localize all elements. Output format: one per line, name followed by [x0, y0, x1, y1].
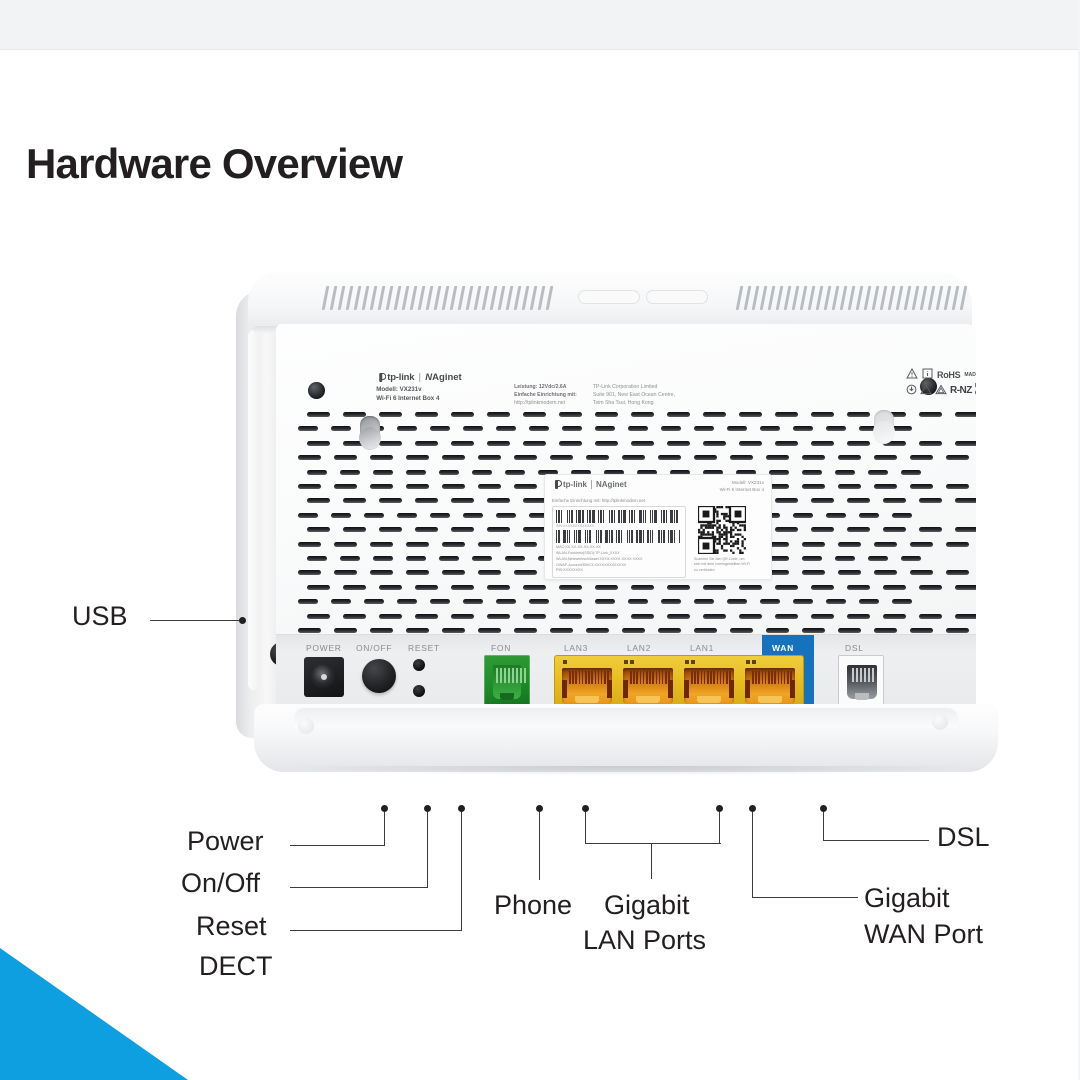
callout-dot-phone [536, 805, 543, 812]
tp-link-wordmark: tp-link [387, 372, 414, 383]
on-off-button[interactable] [362, 659, 396, 693]
callout-label-wan-line1: Gigabit [864, 883, 950, 914]
rj45-side-left [745, 680, 750, 698]
device-brand-block: tp-link NAginet Modell: VX231v Wi-Fi 6 I… [376, 372, 498, 404]
rj45-side-left [562, 680, 567, 698]
device-product-text: Wi-Fi 6 Internet Box 4 [376, 395, 498, 404]
sticker-aginet: NAginet [596, 480, 627, 489]
sticker-product: Wi-Fi 6 Internet Box 4 [720, 487, 764, 494]
callout-label-usb: USB [72, 601, 128, 632]
callout-leader-phone-v [539, 808, 540, 880]
rj45-jack-lan3 [558, 658, 616, 707]
callout-leader-power-h [290, 845, 385, 846]
serial-caption: S/N:XXXXXXXXXXXXX [556, 524, 682, 528]
fon-phone-port [484, 655, 530, 707]
ukca-mark: UKCA [975, 384, 976, 397]
rj45-tab [636, 696, 660, 703]
callout-leader-dsl-v [823, 808, 824, 841]
rnz-mark: R-NZ [950, 385, 972, 396]
callout-leader-power-v [384, 808, 385, 846]
callout-dot-wan [749, 805, 756, 812]
top-slot-right [646, 290, 708, 304]
company-line-1: TP-Link Corporation Limited [593, 383, 675, 391]
port-label-reset: RESET [408, 643, 440, 653]
callout-dot-onoff [424, 805, 431, 812]
made-in-china-mark: MADE IN CHINA [964, 372, 976, 378]
rj45-pins [752, 671, 792, 684]
page-title: Hardware Overview [26, 140, 402, 188]
port-label-dsl: DSL [845, 643, 864, 653]
dsl-port-tab [855, 693, 869, 700]
sticker-setup-text: Einfache Einrichtung mit: http://tplinkm… [545, 494, 771, 503]
callout-dot-lan-left [582, 805, 589, 812]
top-vent-group-right [738, 286, 965, 310]
rj45-pins [630, 671, 670, 684]
rj45-side-left [623, 680, 628, 698]
rohs-mark: RoHS [937, 370, 960, 380]
qr-code-icon [698, 506, 746, 554]
callout-leader-onoff-v [427, 808, 428, 888]
house-icon [920, 382, 932, 400]
callout-dot-reset [458, 805, 465, 812]
reset-pinhole[interactable] [413, 659, 425, 671]
callout-leader-reset-v [461, 808, 462, 931]
sticker-credential-line-5: PIN:XXXXXXXX [556, 568, 682, 574]
callout-dot-lan-right [716, 805, 723, 812]
page-top-band [0, 0, 1080, 50]
device-setup-url: http://tplinkmodem.net [514, 399, 577, 407]
qr-caption: Scannen Sie den QR-Code, um sich mit dem… [694, 557, 750, 574]
port-label-lan1: LAN1 [690, 643, 714, 653]
callout-dot-usb [239, 617, 246, 624]
router-drop-shadow [292, 766, 964, 776]
callout-label-dect: DECT [199, 951, 273, 982]
rj45-jack-wan [741, 658, 799, 707]
base-foot-left [298, 718, 314, 734]
fon-port-cavity [493, 665, 521, 699]
device-company-info: TP-Link Corporation Limited Suite 901, N… [593, 372, 675, 407]
device-setup-label: Einfache Einrichtung mit: [514, 392, 577, 398]
port-label-power: POWER [306, 643, 342, 653]
callout-label-lan-line1: Gigabit [604, 890, 690, 921]
callout-leader-lan-left-v [585, 808, 586, 844]
rj45-cavity [562, 668, 612, 704]
rj45-tab [697, 696, 721, 703]
port-led-left [563, 660, 567, 664]
aginet-wordmark: NAginet [425, 372, 461, 383]
callout-dot-dsl [820, 805, 827, 812]
callout-leader-dsl-h [823, 840, 929, 841]
certification-marks: RoHS MADE IN CHINA R-NZ UKCA € CE EAC TP [906, 368, 976, 399]
rj45-cavity [684, 668, 734, 704]
callout-label-dsl: DSL [937, 822, 990, 853]
callout-label-lan-line2: LAN Ports [583, 925, 706, 956]
router-top-lid [248, 272, 972, 330]
router-side-highlight [248, 330, 260, 690]
screw-hole-top-left [308, 382, 325, 399]
rj45-tab [758, 696, 782, 703]
port-led-right [752, 660, 756, 664]
lan-wan-port-bank [554, 655, 804, 709]
tp-link-mark-icon [376, 373, 385, 382]
rj45-pins [569, 671, 609, 684]
callout-leader-wan-v [752, 808, 753, 898]
rj45-jack-lan2 [619, 658, 677, 707]
company-line-2: Suite 901, New East Ocean Centre, [593, 391, 675, 399]
callout-label-onoff: On/Off [181, 868, 260, 899]
fon-port-tab [500, 693, 514, 700]
port-led-left [746, 660, 750, 664]
barcode-top [556, 510, 682, 523]
barcode-bottom [556, 530, 682, 543]
sticker-model: Modell: VX231v [720, 480, 764, 487]
callout-leader-lan-stem [651, 843, 652, 879]
sticker-credential-lines: MAC:XX-XX-XX-XX-XX-XXWLAN-Funknetz(SSID)… [556, 545, 682, 575]
dsl-port-pins [852, 668, 874, 682]
dsl-port-cavity [847, 665, 877, 699]
sticker-brand: tp-link [563, 480, 587, 489]
dect-pinhole[interactable] [413, 685, 425, 697]
device-printed-label: tp-link NAginet Modell: VX231v Wi-Fi 6 I… [376, 372, 876, 407]
rj45-side-right [607, 680, 612, 698]
callout-label-wan-line2: WAN Port [864, 919, 983, 950]
callout-label-power: Power [187, 826, 264, 857]
port-led-left [624, 660, 628, 664]
power-jack [304, 657, 344, 697]
brand-divider [419, 373, 420, 382]
fon-port-pins [496, 668, 526, 683]
sticker-tp-mark-icon [552, 480, 561, 489]
rj45-tab [575, 696, 599, 703]
top-slot-left [578, 290, 640, 304]
callout-leader-reset-h [290, 930, 462, 931]
callout-leader-onoff-h [290, 887, 428, 888]
rj45-pins [691, 671, 731, 684]
device-info-sticker: tp-link NAginet Modell: VX231v Wi-Fi 6 I… [544, 474, 772, 580]
callout-leader-usb [150, 620, 240, 621]
port-label-onoff: ON/OFF [356, 643, 392, 653]
sticker-qr-block: Scannen Sie den QR-Code, um sich mit dem… [694, 506, 750, 579]
callout-leader-lan-bracket [585, 843, 721, 844]
sticker-brand-divider [591, 480, 592, 489]
rj45-side-right [729, 680, 734, 698]
indoor-use-icon [906, 382, 917, 400]
rj45-side-left [684, 680, 689, 698]
rj45-jack-lan1 [680, 658, 738, 707]
port-led-right [630, 660, 634, 664]
callout-label-reset: Reset [196, 911, 267, 942]
dsl-port [838, 655, 884, 707]
callout-leader-lan-right-v [719, 808, 720, 844]
wall-mount-keyhole-left [360, 416, 380, 450]
wall-mount-keyhole-right [874, 410, 894, 444]
port-led-left [685, 660, 689, 664]
base-foot-right [932, 714, 948, 730]
sticker-tp-link-logo: tp-link [552, 480, 587, 489]
port-label-lan3: LAN3 [564, 643, 588, 653]
rj45-side-right [790, 680, 795, 698]
rj45-cavity [745, 668, 795, 704]
rj45-cavity [623, 668, 673, 704]
router-base-lip [294, 708, 958, 728]
callout-leader-wan-h [752, 897, 858, 898]
device-power-rating: Leistung: 12Vdc/2.6A [514, 384, 566, 390]
top-vent-group-left [324, 286, 551, 310]
device-model-text: Modell: VX231v [376, 386, 498, 395]
page-top-band-divider [0, 49, 1080, 50]
company-line-3: Tsim Sha Tsui, Hong Kong [593, 399, 675, 407]
sticker-barcode-box: S/N:XXXXXXXXXXXXX MAC:XX-XX-XX-XX-XX-XXW… [552, 506, 686, 579]
class-ii-triangle-icon [935, 382, 947, 400]
callout-dot-power [381, 805, 388, 812]
rj45-side-right [668, 680, 673, 698]
port-led-right [691, 660, 695, 664]
port-label-wan: WAN [772, 643, 794, 653]
brand-accent-wedge [0, 948, 188, 1080]
router-illustration: tp-link NAginet Modell: VX231v Wi-Fi 6 I… [236, 272, 984, 772]
port-label-fon: FON [491, 643, 511, 653]
tp-link-logo: tp-link [376, 372, 414, 383]
callout-label-phone: Phone [494, 890, 572, 921]
port-label-lan2: LAN2 [627, 643, 651, 653]
device-power-info: Leistung: 12Vdc/2.6A Einfache Einrichtun… [514, 372, 577, 407]
